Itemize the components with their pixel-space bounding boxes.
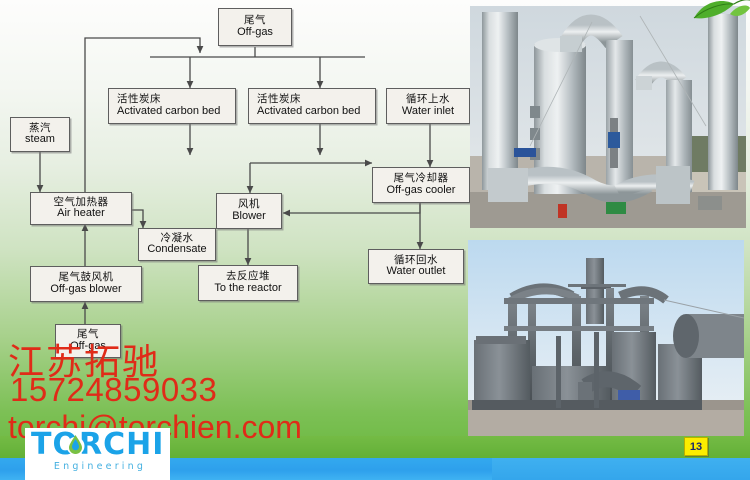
flow-node-air-heater[interactable]: 空气加热器 Air heater	[30, 192, 132, 225]
torchi-logo-tagline: Engineering	[35, 461, 165, 472]
flow-node-label-en: Condensate	[147, 244, 206, 256]
flow-node-label-en: Off-gas cooler	[387, 185, 456, 197]
flow-node-label-en: Water outlet	[387, 266, 446, 278]
flow-node-condensate[interactable]: 冷凝水 Condensate	[138, 228, 216, 261]
photo-treatment-plant	[468, 240, 744, 445]
flow-node-label-en: Off-gas	[237, 27, 273, 39]
flow-node-label-en: Blower	[232, 211, 266, 223]
flow-node-label-en: steam	[25, 134, 55, 146]
flow-node-label-en: Activated carbon bed	[257, 106, 360, 118]
water-drop-icon	[66, 434, 85, 456]
footer-blue-band-right	[492, 458, 750, 480]
slide-number-badge: 13	[684, 437, 708, 456]
flow-node-to-reactor[interactable]: 去反应堆 To the reactor	[198, 265, 298, 301]
slide-canvas: 尾气 Off-gas 活性炭床 Activated carbon bed 活性炭…	[0, 0, 750, 480]
photo-scrubber-towers	[470, 6, 746, 228]
flow-node-carbon-bed-1[interactable]: 活性炭床 Activated carbon bed	[108, 88, 236, 124]
flow-node-offgas-blower[interactable]: 尾气鼓风机 Off-gas blower	[30, 266, 142, 302]
watermark-phone: 15724859033	[10, 371, 217, 409]
flow-node-offgas-cooler[interactable]: 尾气冷却器 Off-gas cooler	[372, 167, 470, 203]
flow-node-water-inlet[interactable]: 循环上水 Water inlet	[386, 88, 470, 124]
flow-node-carbon-bed-2[interactable]: 活性炭床 Activated carbon bed	[248, 88, 376, 124]
flow-node-label-en: Air heater	[57, 208, 105, 220]
flow-node-water-outlet[interactable]: 循环回水 Water outlet	[368, 249, 464, 284]
leaf-decoration-icon	[690, 0, 750, 24]
flow-node-label-en: To the reactor	[214, 283, 281, 295]
flow-node-label-en: Activated carbon bed	[117, 106, 220, 118]
flow-node-label-en: Water inlet	[402, 106, 454, 118]
flow-node-blower[interactable]: 风机 Blower	[216, 193, 282, 229]
flow-node-offgas-top[interactable]: 尾气 Off-gas	[218, 8, 292, 46]
flow-node-label-en: Off-gas blower	[50, 284, 121, 296]
flow-node-steam[interactable]: 蒸汽 steam	[10, 117, 70, 152]
torchi-logo: TORCHI Engineering	[25, 428, 170, 480]
torchi-logo-wordmark: TORCHI	[31, 429, 165, 461]
